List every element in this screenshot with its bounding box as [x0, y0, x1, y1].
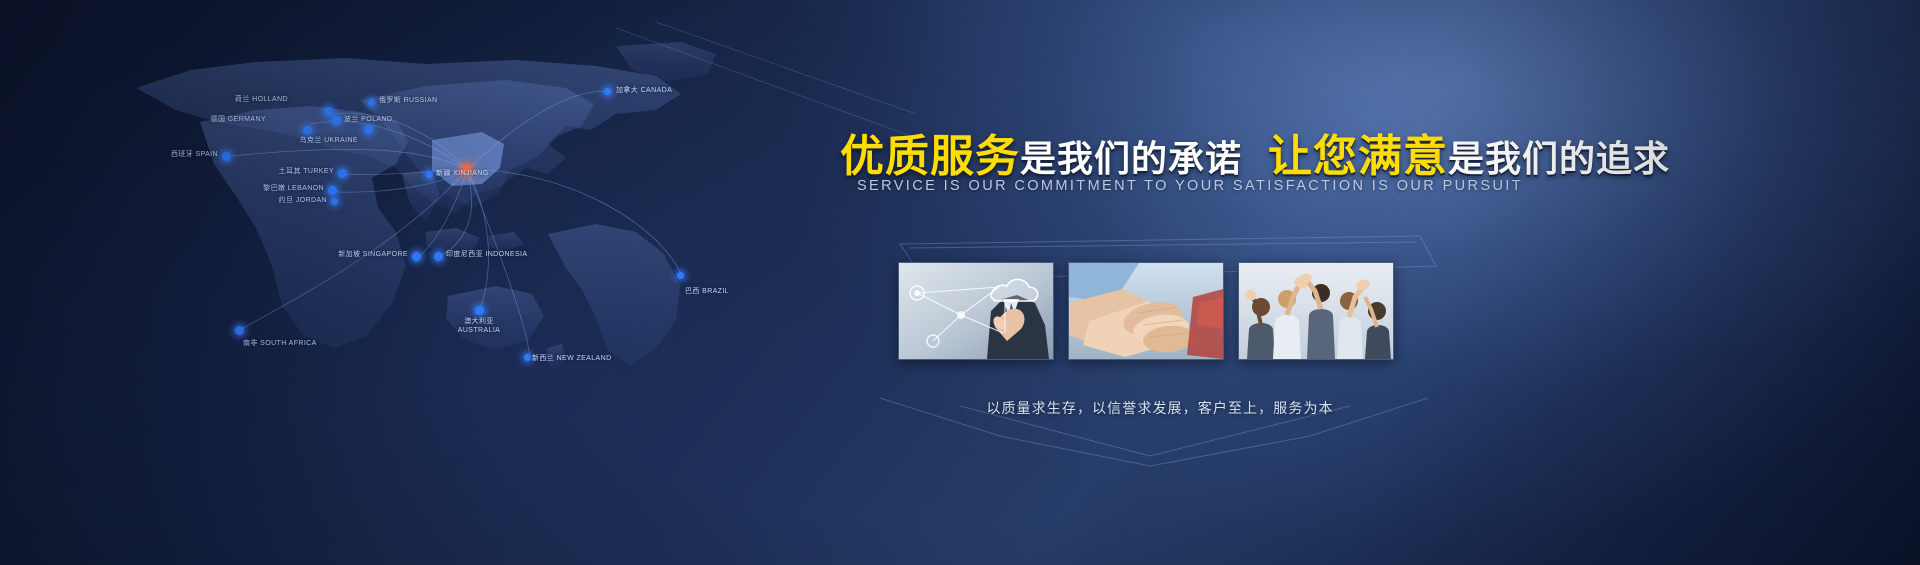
map-label-turkey: 土耳其 TURKEY — [279, 166, 334, 176]
map-label-spain: 西班牙 SPAIN — [171, 149, 218, 159]
map-label-canada: 加拿大 CANADA — [616, 85, 672, 95]
tagline: 以质量求生存，以信誉求发展，客户至上，服务为本 — [900, 398, 1420, 418]
map-label-indonesia: 印度尼西亚 INDONESIA — [446, 249, 527, 259]
headline: 优质服务是我们的承诺让您满意是我们的追求 — [840, 120, 1540, 184]
world-map: 荷兰 HOLLAND 德国 GERMANY 波兰 POLAND 俄罗斯 RUSS… — [96, 18, 916, 438]
map-label-singapore: 新加坡 SINGAPORE — [338, 249, 408, 259]
map-node-holland — [324, 107, 333, 116]
map-label-jordan: 约旦 JORDAN — [279, 195, 327, 205]
map-label-southafrica: 南非 SOUTH AFRICA — [243, 338, 317, 348]
headline-plain-2: 是我们的追求 — [1448, 139, 1670, 180]
teamwork-hands-photo[interactable] — [1068, 262, 1224, 360]
map-node-newzealand — [524, 354, 531, 361]
map-node-spain — [222, 152, 231, 161]
map-node-jordan — [331, 198, 338, 205]
map-node-southafrica — [235, 326, 244, 335]
headline-highlight-2: 让您满意 — [1268, 131, 1448, 182]
map-label-poland: 波兰 POLAND — [344, 114, 392, 124]
map-node-brazil — [677, 272, 684, 279]
headline-plain-1: 是我们的承诺 — [1020, 139, 1242, 180]
map-node-russia — [368, 99, 375, 106]
promo-banner: 荷兰 HOLLAND 德国 GERMANY 波兰 POLAND 俄罗斯 RUSS… — [0, 0, 1920, 565]
map-node-indonesia — [434, 252, 443, 261]
map-node-poland — [332, 116, 341, 125]
map-node-singapore — [412, 252, 421, 261]
map-label-lebanon: 黎巴嫩 LEBANON — [263, 183, 324, 193]
photo-strip — [898, 262, 1394, 360]
map-label-ukraine: 乌克兰 UKRAINE — [300, 135, 358, 145]
map-node-xinjiang — [426, 171, 433, 178]
map-node-ukraine — [364, 125, 373, 134]
map-node-australia — [475, 306, 484, 315]
team-highfive-photo[interactable] — [1238, 262, 1394, 360]
map-node-lebanon — [328, 186, 337, 195]
headline-highlight-1: 优质服务 — [840, 131, 1020, 182]
map-label-australia: 澳大利亚AUSTRALIA — [458, 317, 501, 336]
map-label-holland: 荷兰 HOLLAND — [235, 94, 288, 104]
map-label-russia: 俄罗斯 RUSSIAN — [379, 95, 437, 105]
map-label-germany: 德国 GERMANY — [211, 114, 266, 124]
map-label-xinjiang: 新疆 XINJIANG — [436, 168, 489, 178]
cloud-technology-photo[interactable] — [898, 262, 1054, 360]
headline-subtitle: SERVICE IS OUR COMMITMENT TO YOUR SATISF… — [840, 178, 1540, 194]
map-label-newzealand: 新西兰 NEW ZEALAND — [532, 353, 612, 363]
map-label-brazil: 巴西 BRAZIL — [685, 286, 729, 296]
map-node-turkey — [338, 169, 347, 178]
map-node-germany — [303, 126, 312, 135]
map-node-canada — [604, 88, 611, 95]
